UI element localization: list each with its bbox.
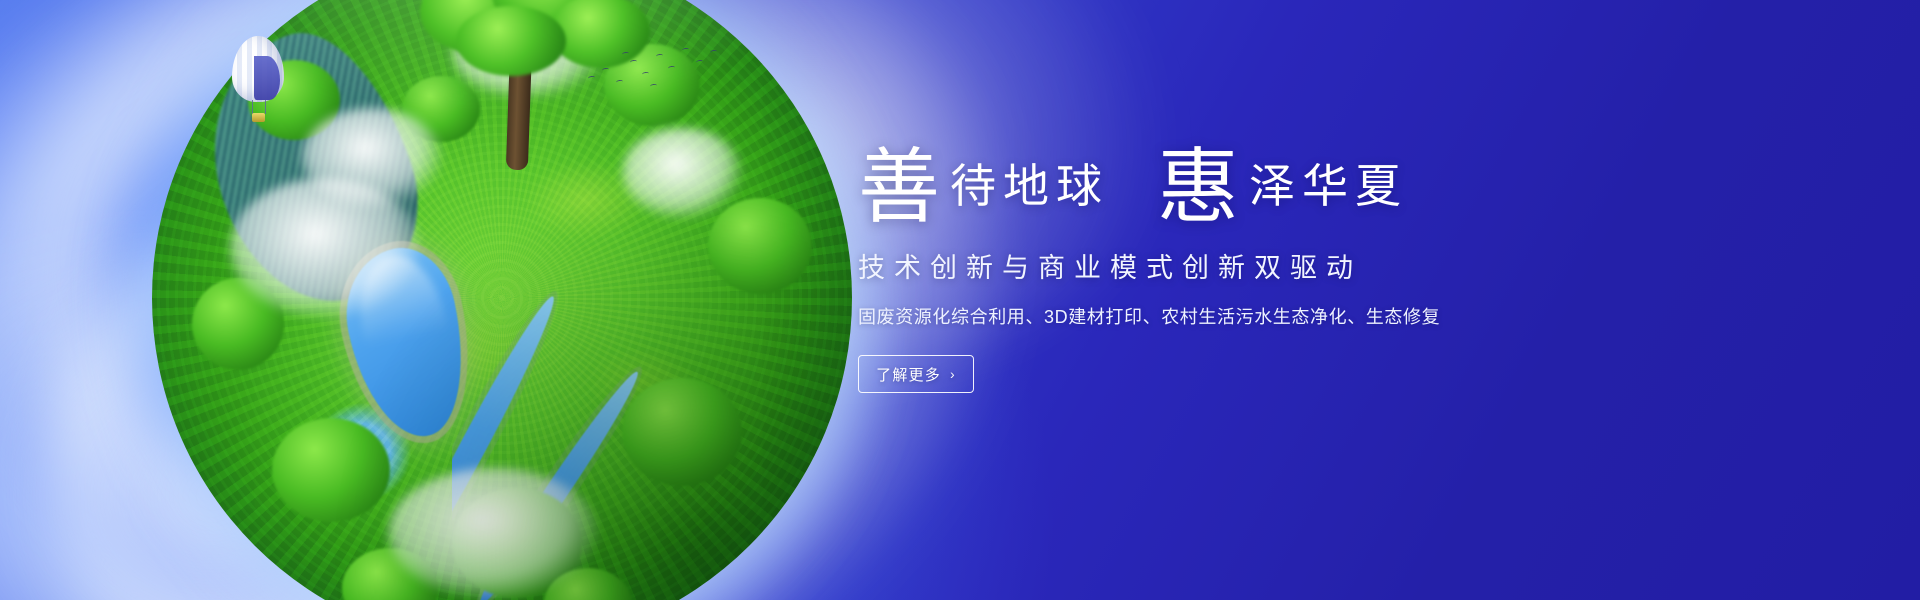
hero-banner: 善 待地球 惠 泽华夏 技术创新与商业模式创新双驱动 固废资源化综合利用、3D建… xyxy=(0,0,1920,600)
page-title: 善 待地球 惠 泽华夏 xyxy=(858,126,1758,222)
balloon-basket xyxy=(252,113,265,122)
tree-crown xyxy=(456,6,566,76)
tree-clump xyxy=(622,378,742,486)
tree-clump xyxy=(272,418,390,522)
tree xyxy=(400,0,650,190)
hero-description: 固废资源化综合利用、3D建材打印、农村生活污水生态净化、生态修复 xyxy=(858,303,1758,329)
headline-phrase2-secondary: 泽华夏 xyxy=(1239,164,1408,222)
hot-air-balloon xyxy=(232,36,284,122)
hero-content: 善 待地球 惠 泽华夏 技术创新与商业模式创新双驱动 固废资源化综合利用、3D建… xyxy=(858,126,1758,393)
river xyxy=(452,278,692,600)
headline-phrase1-primary: 善 xyxy=(858,149,940,226)
learn-more-button[interactable]: 了解更多 › xyxy=(858,355,974,393)
tree-clump xyxy=(192,278,284,370)
tree-clump xyxy=(342,548,438,600)
balloon-band xyxy=(254,56,280,100)
cloud xyxy=(230,178,420,318)
tree-clump xyxy=(452,488,582,598)
cloud xyxy=(388,468,598,598)
tree-clump xyxy=(708,198,812,294)
balloon-ropes xyxy=(252,100,266,114)
chevron-right-icon: › xyxy=(950,367,956,381)
learn-more-label: 了解更多 xyxy=(876,364,941,385)
headline-phrase2-primary: 惠 xyxy=(1157,149,1239,226)
tree-clump xyxy=(544,568,632,600)
bird-flock xyxy=(586,46,726,92)
lake xyxy=(333,239,480,448)
hero-subtitle: 技术创新与商业模式创新双驱动 xyxy=(858,246,1758,285)
headline-phrase1-secondary: 待地球 xyxy=(940,164,1109,222)
